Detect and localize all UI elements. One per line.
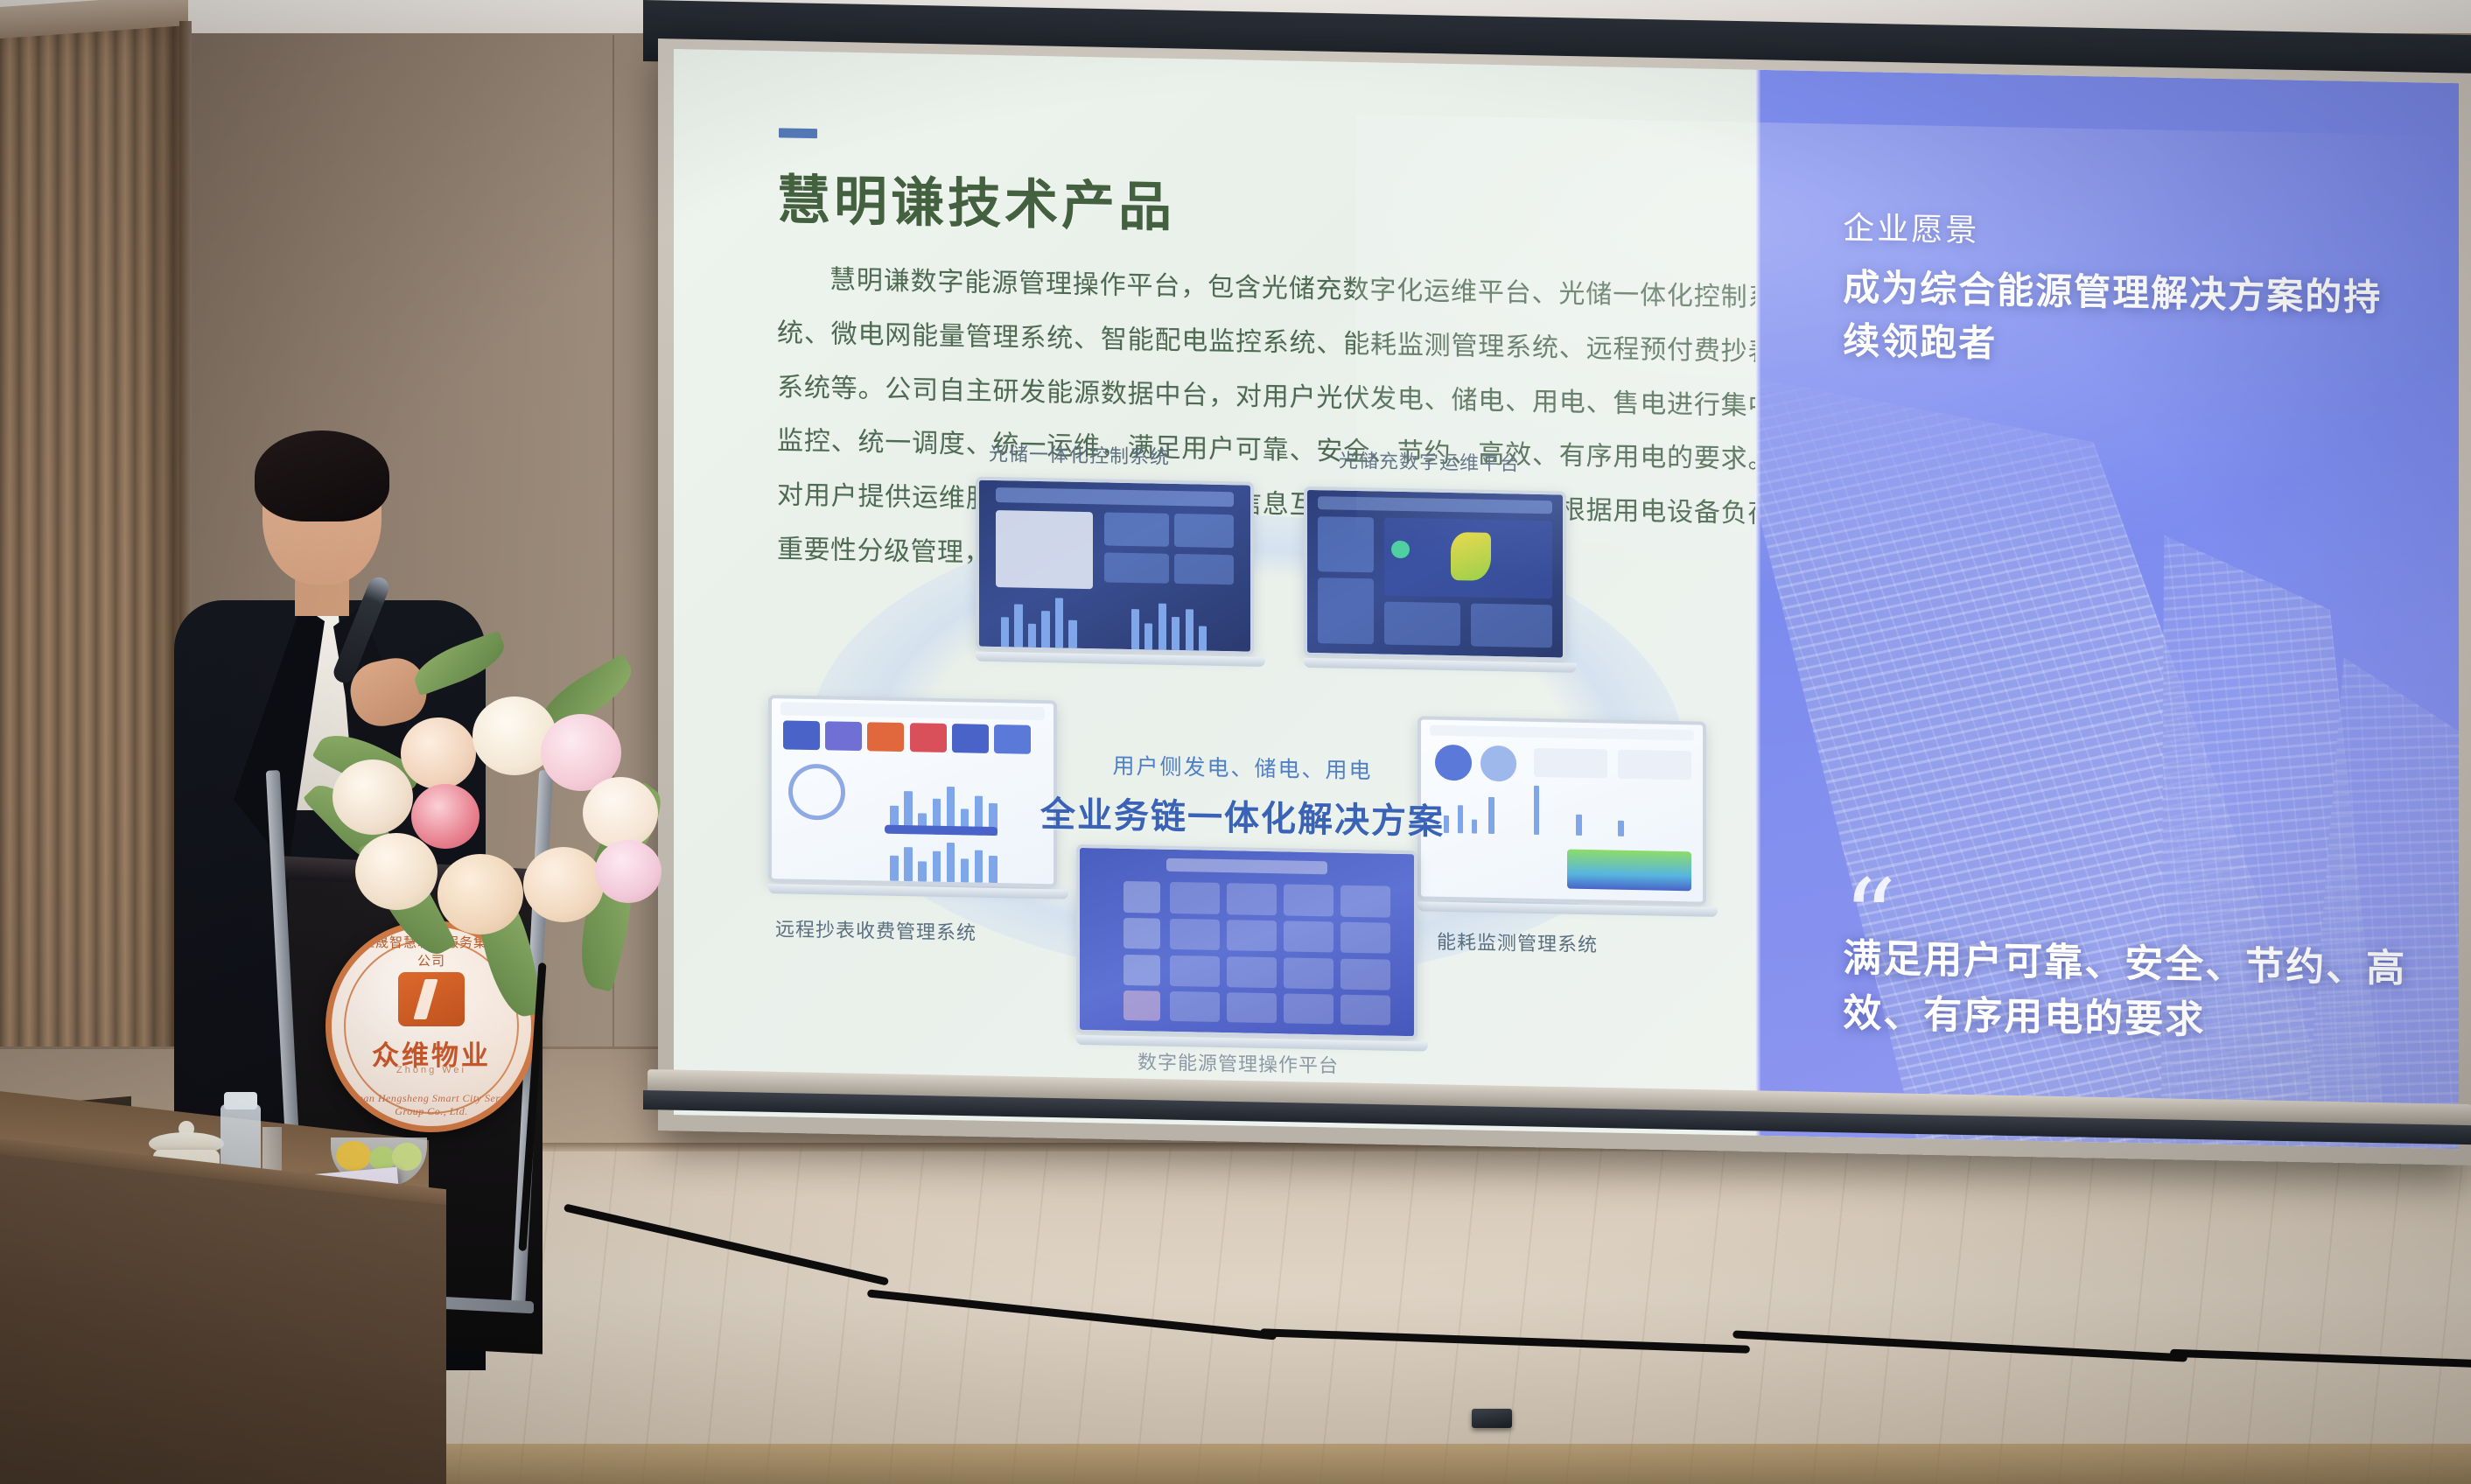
diagram-label-bottom-right: 能耗监测管理系统: [1437, 927, 1598, 958]
slide-title: 慧明谦技术产品: [777, 156, 1175, 241]
laptop-screen: [1304, 486, 1566, 661]
vision-heading: 企业愿景: [1843, 203, 2385, 259]
vision-block: 企业愿景 成为综合能源管理解决方案的持续领跑者: [1843, 203, 2385, 379]
wood-slat-panel: [0, 17, 184, 1172]
flower-arrangement: [306, 612, 665, 1024]
diagram-caption-big: 全业务链一体化解决方案: [1015, 785, 1470, 844]
vision-text: 成为综合能源管理解决方案的持续领跑者: [1843, 261, 2385, 379]
laptop-digital-ops-platform: [1304, 486, 1566, 673]
product-diagram: 光储一体化控制系统: [726, 426, 1759, 1094]
projector-screen: 慧明谦技术产品 慧明谦数字能源管理操作平台，包含光储充数字化运维平台、光储一体化…: [674, 49, 2459, 1149]
laptop-screen: [768, 695, 1057, 887]
dashboard-apps: [1080, 848, 1414, 1036]
presenter-remote-device[interactable]: [1472, 1409, 1512, 1428]
speaker-hair: [255, 430, 389, 521]
laptop-screen: [976, 477, 1254, 655]
dashboard-light: [772, 698, 1053, 884]
slide-right-panel: 企业愿景 成为综合能源管理解决方案的持续领跑者 “ 满足用户可靠、安全、节约、高…: [1755, 70, 2459, 1149]
head-table: [0, 1153, 446, 1484]
dashboard-dark: [979, 480, 1250, 652]
slide-left-panel: 慧明谦技术产品 慧明谦数字能源管理操作平台，包含光储充数字化运维平台、光储一体化…: [674, 49, 1755, 1136]
seal-company-name-en: Hunan Hengsheng Smart City Service Group…: [332, 1092, 531, 1118]
title-accent-dash-icon: [779, 128, 817, 138]
diagram-label-bottom-left: 远程抄表收费管理系统: [775, 913, 976, 945]
laptop-energy-os-platform: [1076, 844, 1417, 1051]
laptop-screen: [1076, 844, 1417, 1039]
laptop-pv-storage-control: [976, 477, 1254, 667]
dashboard-map: [1307, 490, 1563, 658]
diagram-label-top-right: 光储充数字运维平台: [1339, 445, 1520, 477]
seal-brand-pinyin: Zhong Wei: [332, 1065, 531, 1075]
screenshot-root: 慧明谦技术产品 慧明谦数字能源管理操作平台，包含光储充数字化运维平台、光储一体化…: [0, 0, 2471, 1484]
quote-text: 满足用户可靠、安全、节约、高效、有序用电的要求: [1843, 932, 2411, 1052]
slide-panel-divider: [1755, 70, 1760, 1136]
diagram-label-top-left: 光储一体化控制系统: [989, 438, 1170, 470]
diagram-label-bottom-center: 数字能源管理操作平台: [1137, 1046, 1339, 1078]
quote-block: “ 满足用户可靠、安全、节约、高效、有序用电的要求: [1843, 890, 2411, 1052]
diagram-center-caption: 用户侧发电、储电、用电 全业务链一体化解决方案: [1015, 746, 1470, 844]
laptop-remote-meter-billing: [768, 695, 1057, 899]
presentation-slide: 慧明谦技术产品 慧明谦数字能源管理操作平台，包含光储充数字化运维平台、光储一体化…: [674, 49, 2459, 1149]
